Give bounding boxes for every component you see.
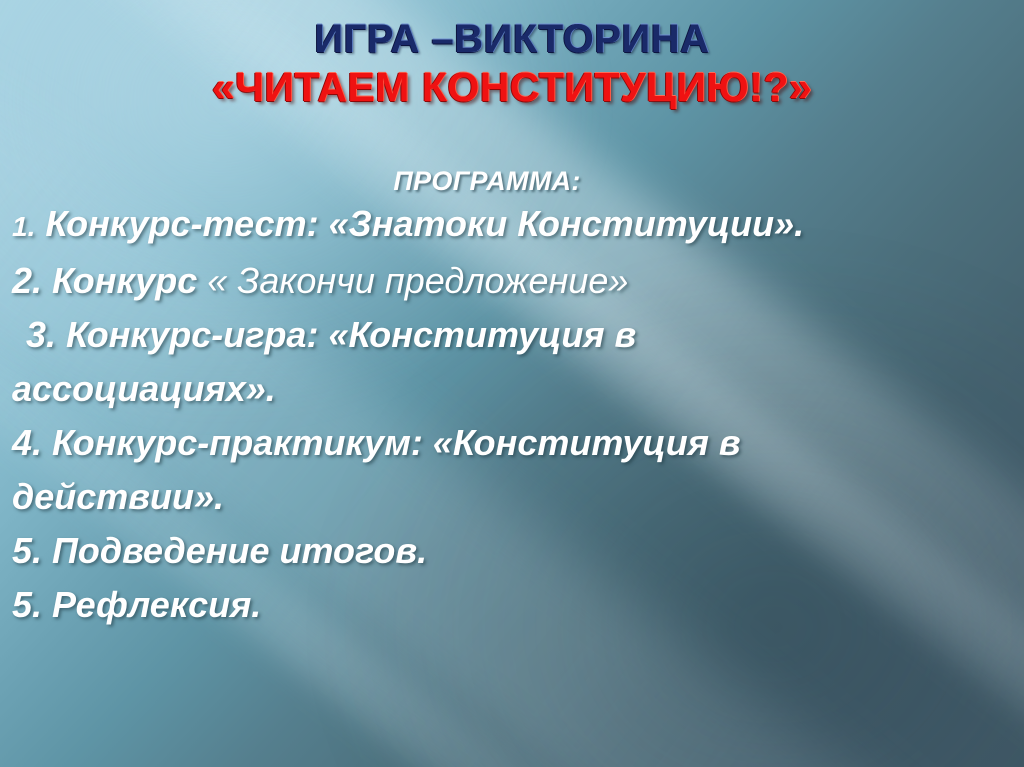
- program-item-6-number: 5.: [12, 584, 42, 625]
- program-item-3-text: Конкурс-игра: «Конституция в: [56, 314, 636, 355]
- program-item-5-number: 5.: [12, 530, 42, 571]
- program-item-4: 4. Конкурс-практикум: «Конституция в: [0, 416, 1024, 470]
- program-item-2-number: 2.: [12, 260, 42, 301]
- program-list: 1. Конкурс-тест: «Знатоки Конституции». …: [0, 197, 1024, 632]
- title-line-1: ИГРА –ВИКТОРИНА: [0, 18, 1024, 61]
- program-item-1: 1. Конкурс-тест: «Знатоки Конституции».: [0, 197, 1024, 254]
- program-item-5: 5. Подведение итогов.: [0, 524, 1024, 578]
- program-item-3-number: 3.: [26, 314, 56, 355]
- program-item-3-continuation: ассоциациях».: [0, 362, 1024, 416]
- program-block: ПРОГРАММА: 1. Конкурс-тест: «Знатоки Кон…: [0, 166, 1024, 632]
- program-item-4-text: Конкурс-практикум: «Конституция в: [42, 422, 741, 463]
- program-item-2-quoted: « Закончи предложение»: [207, 260, 628, 301]
- program-item-1-text: Конкурс-тест: «Знатоки Конституции».: [35, 203, 804, 244]
- program-item-1-number: 1.: [12, 211, 35, 242]
- program-item-6: 5. Рефлексия.: [0, 578, 1024, 632]
- program-item-2: 2. Конкурс « Закончи предложение»: [0, 254, 1024, 308]
- program-item-6-text: Рефлексия.: [42, 584, 261, 625]
- program-item-3: 3. Конкурс-игра: «Конституция в: [0, 308, 1024, 362]
- program-item-5-text: Подведение итогов.: [42, 530, 427, 571]
- program-heading: ПРОГРАММА:: [0, 166, 1024, 197]
- slide-canvas: ИГРА –ВИКТОРИНА «ЧИТАЕМ КОНСТИТУЦИЮ!?» П…: [0, 0, 1024, 767]
- slide-title: ИГРА –ВИКТОРИНА «ЧИТАЕМ КОНСТИТУЦИЮ!?»: [0, 18, 1024, 109]
- program-item-4-number: 4.: [12, 422, 42, 463]
- program-item-3-continuation-text: ассоциациях».: [12, 368, 276, 409]
- program-item-2-text: Конкурс: [42, 260, 207, 301]
- program-item-4-continuation: действии».: [0, 470, 1024, 524]
- program-item-4-continuation-text: действии».: [12, 476, 224, 517]
- title-line-2: «ЧИТАЕМ КОНСТИТУЦИЮ!?»: [0, 65, 1024, 109]
